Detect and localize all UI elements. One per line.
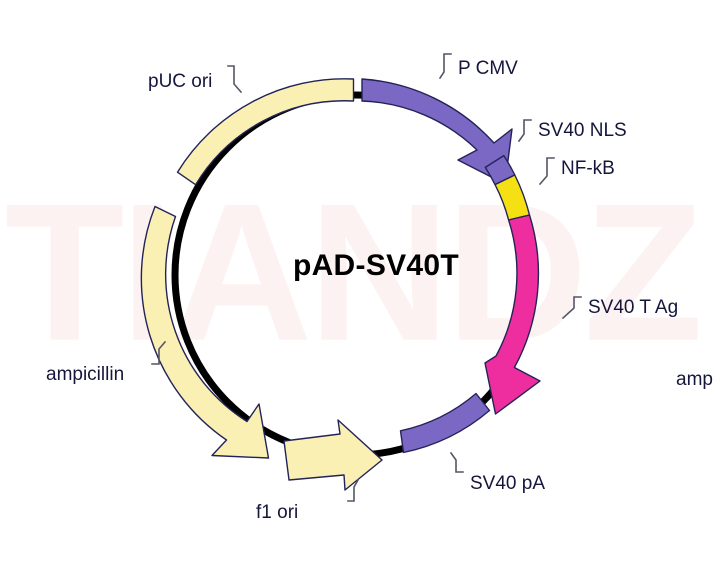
label-f1-ori: f1 ori: [256, 502, 298, 523]
clipped-amp-label: amp: [676, 369, 713, 390]
label-ampicillin: ampicillin: [46, 364, 124, 385]
label-p-cmv: P CMV: [458, 58, 518, 79]
label-sv40-nls: SV40 NLS: [538, 120, 627, 141]
label-nf-kb: NF-kB: [561, 158, 615, 179]
label-sv40-pa: SV40 pA: [470, 473, 545, 494]
plasmid-map-figure: TIANDZ pUC ori P CMV SV40 NLS: [0, 0, 721, 571]
label-sv40-t-ag: SV40 T Ag: [588, 297, 678, 318]
page-title: pAD-SV40T: [293, 249, 459, 282]
label-puc-ori: pUC ori: [148, 71, 212, 92]
